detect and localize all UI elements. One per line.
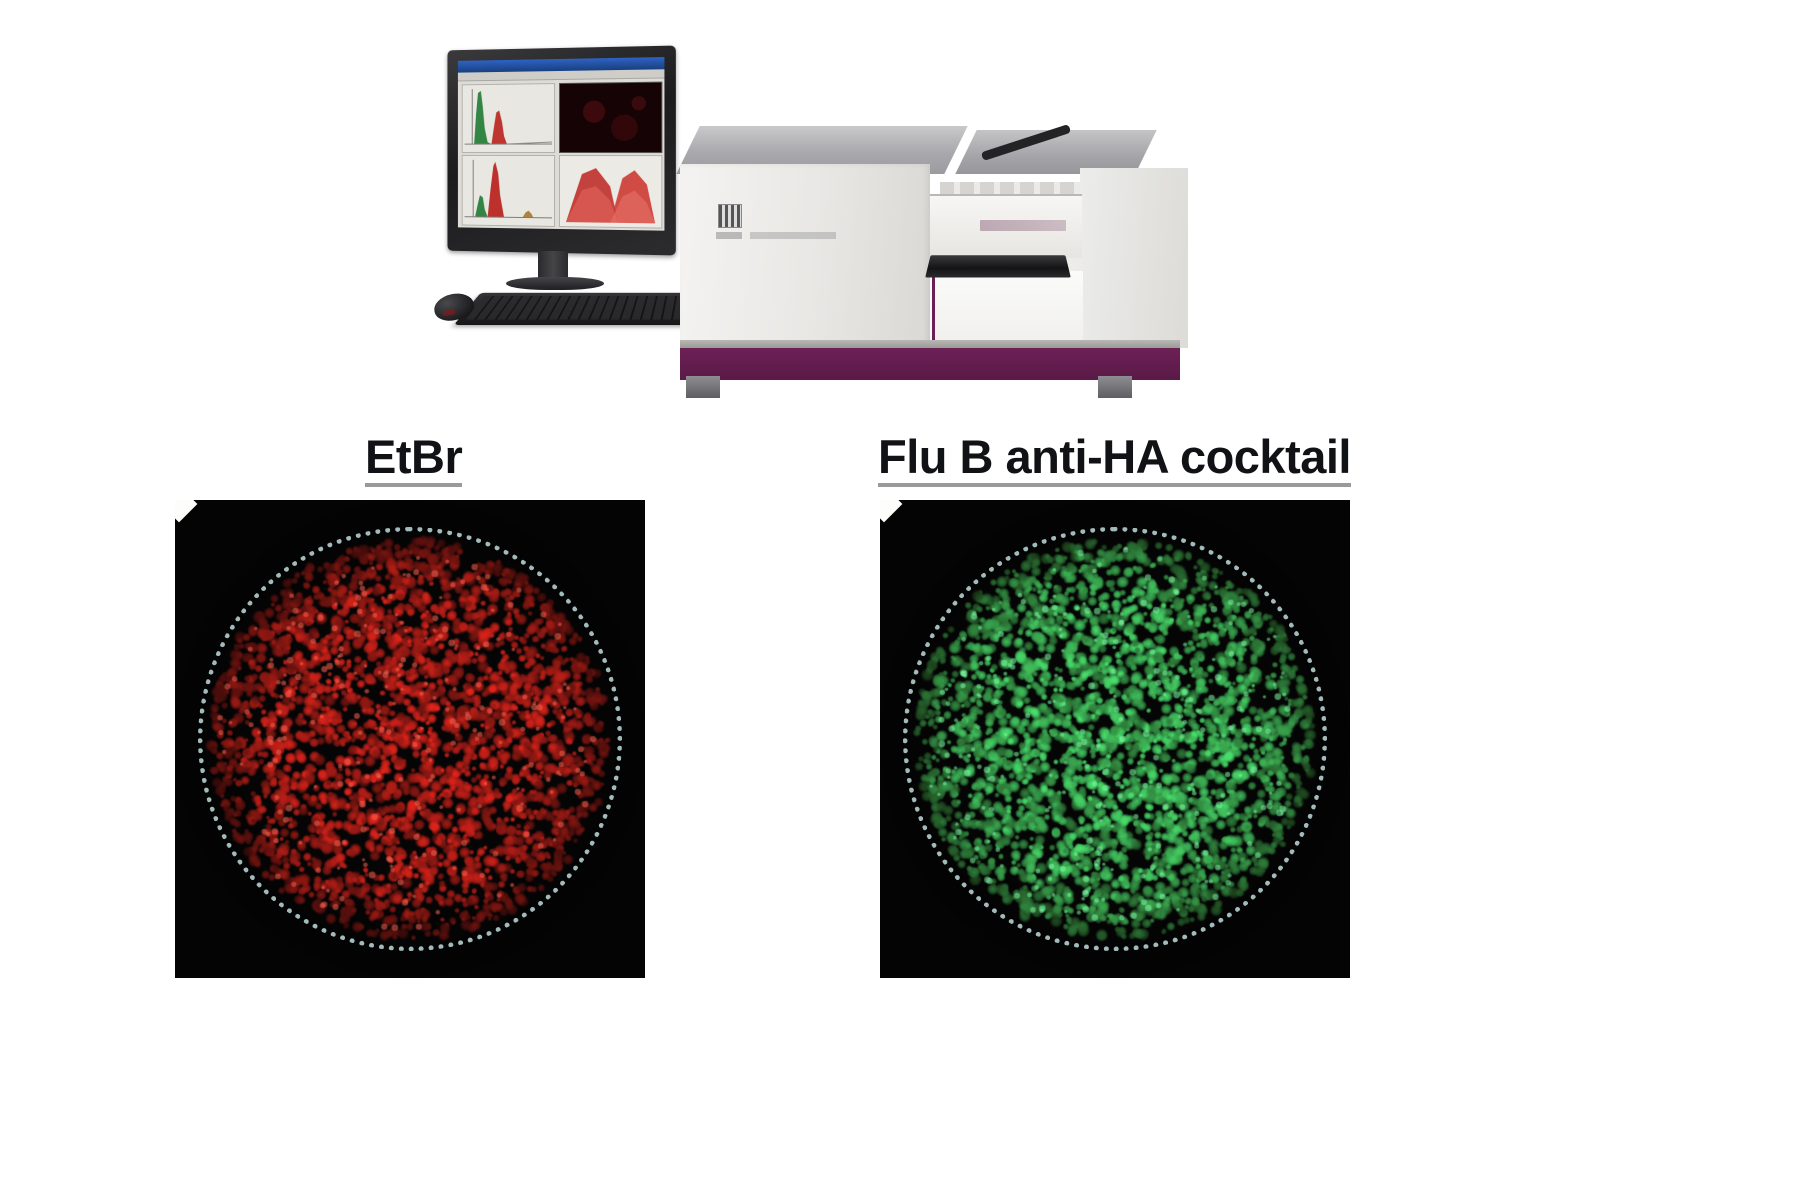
micrograph-panel-flu-b-anti-ha bbox=[880, 500, 1350, 978]
surface-plot-bottom-right bbox=[559, 155, 662, 229]
keyboard bbox=[454, 293, 719, 325]
histogram-svg-2 bbox=[463, 156, 554, 226]
instrument-foot-left bbox=[686, 376, 720, 398]
benchtop-reader-instrument bbox=[680, 108, 1200, 398]
histogram-svg-1 bbox=[463, 84, 554, 152]
panel-label-etbr: EtBr bbox=[365, 432, 462, 487]
dark-field-svg bbox=[560, 83, 661, 152]
figure-root: EtBr Flu B anti-HA cocktail bbox=[0, 0, 1800, 1200]
instrument-drawer-tray[interactable] bbox=[925, 255, 1071, 277]
monitor-screen bbox=[458, 57, 665, 231]
computer-workstation bbox=[420, 48, 680, 298]
instrument-photo bbox=[360, 40, 1220, 410]
dark-field-image-top-right bbox=[559, 82, 662, 153]
corner-nick bbox=[175, 500, 197, 522]
instrument-body-left bbox=[680, 164, 930, 354]
histogram-plot-top-left bbox=[462, 83, 555, 153]
instrument-vent-slots bbox=[940, 182, 1080, 194]
instrument-logo-badge-icon bbox=[718, 204, 742, 228]
monitor-stand-neck bbox=[538, 251, 568, 279]
surface-svg bbox=[560, 156, 661, 228]
monitor-stand-base bbox=[506, 277, 604, 290]
instrument-brand-text bbox=[980, 220, 1066, 231]
instrument-body-right bbox=[1080, 168, 1188, 348]
well-outline-ring bbox=[903, 527, 1327, 951]
micrograph-panel-etbr bbox=[175, 500, 645, 978]
lcd-monitor bbox=[447, 46, 675, 256]
panel-label-flu-b-anti-ha: Flu B anti-HA cocktail bbox=[878, 432, 1351, 487]
corner-nick bbox=[880, 500, 902, 522]
well-outline-ring bbox=[198, 527, 622, 951]
instrument-foot-right bbox=[1098, 376, 1132, 398]
histogram-plot-bottom-left bbox=[462, 155, 555, 227]
instrument-logo-wordmark bbox=[716, 232, 836, 239]
